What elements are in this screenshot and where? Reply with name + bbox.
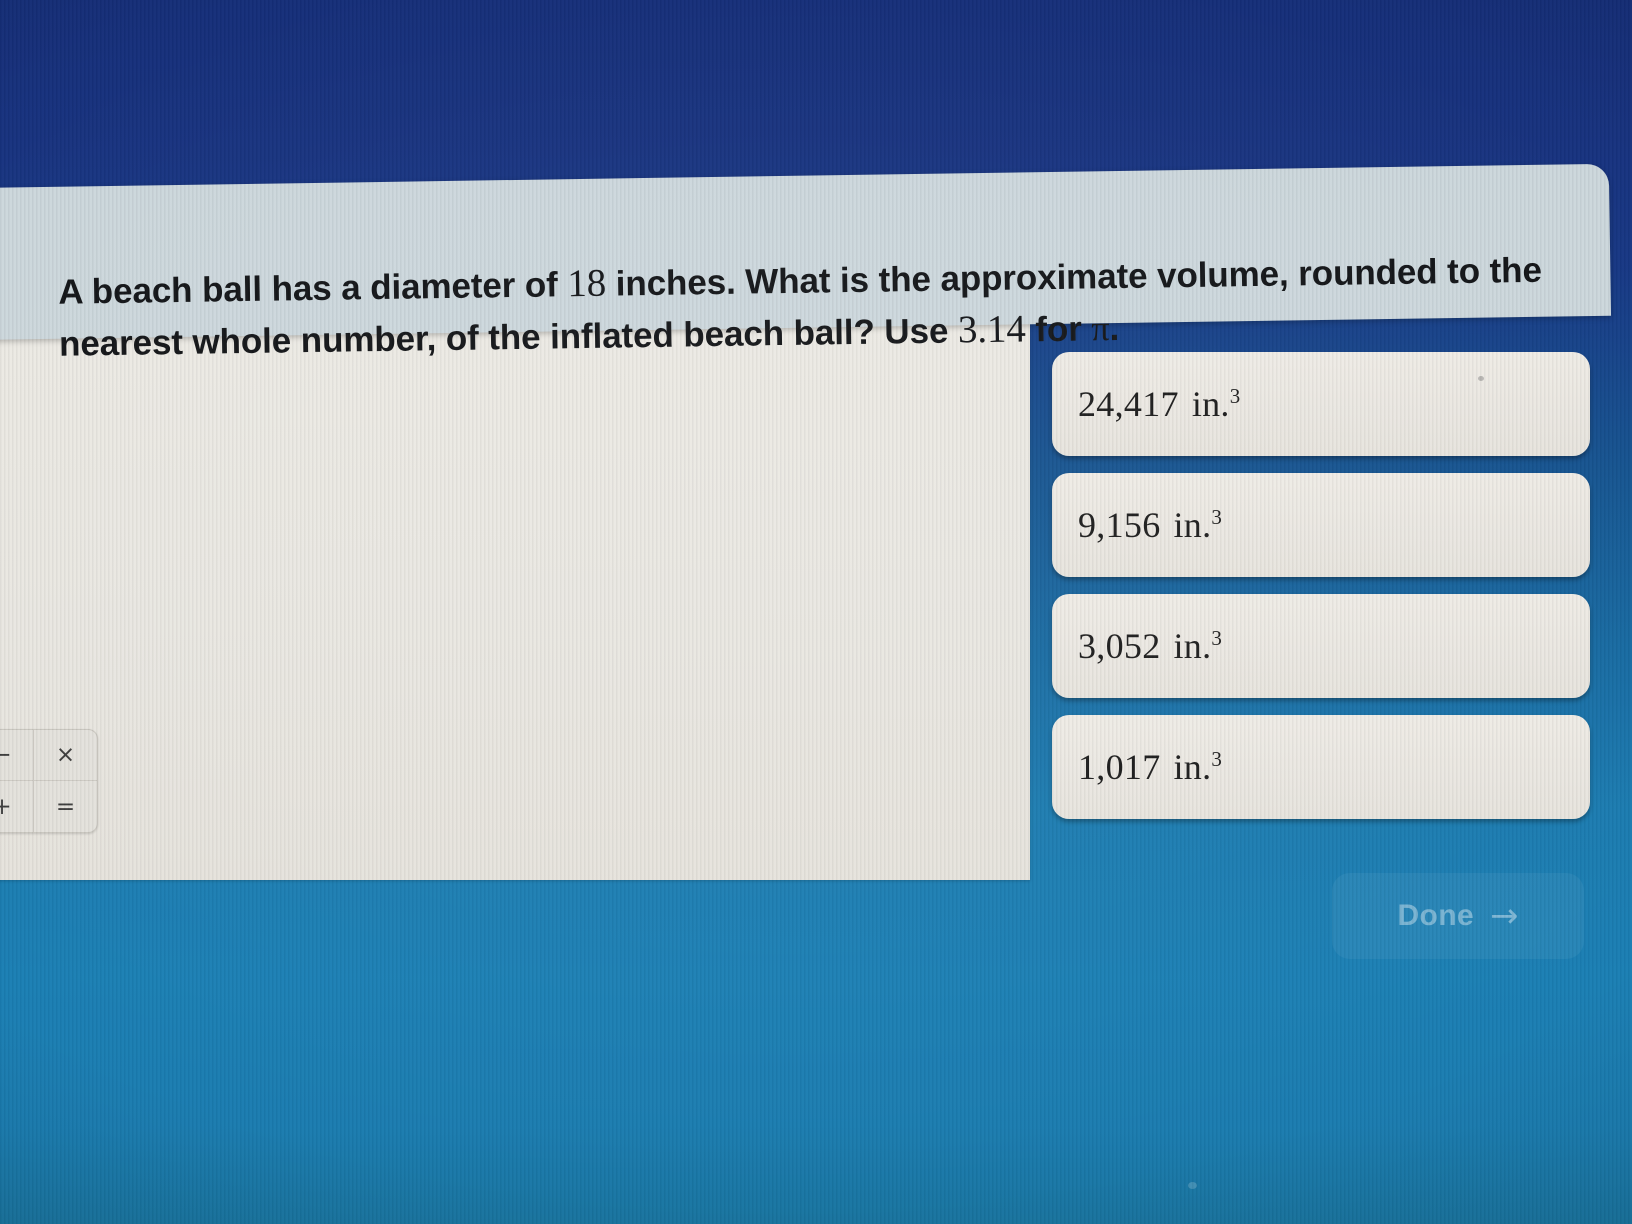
answer-choice-3-unit: in. bbox=[1174, 626, 1212, 666]
question-pi-value: 3.14 bbox=[958, 307, 1026, 351]
done-button[interactable]: Done → bbox=[1332, 873, 1584, 959]
dust-speck-icon bbox=[1478, 376, 1484, 381]
operator-keypad[interactable]: − × + = bbox=[0, 729, 98, 833]
plus-key[interactable]: + bbox=[0, 781, 34, 832]
answer-choice-1-exponent: 3 bbox=[1230, 384, 1241, 408]
question-line1-part-a: A beach ball has a diameter of bbox=[58, 265, 568, 312]
answer-choice-4-exponent: 3 bbox=[1211, 747, 1222, 771]
answer-choice-3-label: 3,052in.3 bbox=[1078, 625, 1222, 667]
answer-choice-1-value: 24,417 bbox=[1078, 384, 1179, 424]
answer-choice-2-value: 9,156 bbox=[1078, 505, 1161, 545]
answer-choice-3-value: 3,052 bbox=[1078, 626, 1161, 666]
answer-choice-1[interactable]: 24,417in.3 bbox=[1052, 352, 1590, 456]
answer-choice-1-unit: in. bbox=[1192, 384, 1230, 424]
answer-choice-4-unit: in. bbox=[1174, 747, 1212, 787]
answer-choice-2-label: 9,156in.3 bbox=[1078, 504, 1222, 546]
question-line1-part-b: inches. What is the approximate volume, … bbox=[606, 251, 1542, 304]
answer-choice-2-unit: in. bbox=[1174, 505, 1212, 545]
answer-choice-3[interactable]: 3,052in.3 bbox=[1052, 594, 1590, 698]
answer-choice-4[interactable]: 1,017in.3 bbox=[1052, 715, 1590, 819]
minus-key[interactable]: − bbox=[0, 730, 34, 781]
answer-choice-list: 24,417in.3 9,156in.3 3,052in.3 1,017in.3 bbox=[1052, 352, 1590, 836]
done-button-label: Done bbox=[1397, 899, 1474, 933]
answer-choice-1-label: 24,417in.3 bbox=[1078, 383, 1241, 425]
question-line2-part-a: nearest whole number, of the inflated be… bbox=[59, 311, 958, 363]
arrow-right-icon: → bbox=[1490, 899, 1519, 933]
quiz-screen: A beach ball has a diameter of 18 inches… bbox=[0, 0, 1632, 1224]
answer-choice-4-label: 1,017in.3 bbox=[1078, 746, 1222, 788]
equals-key[interactable]: = bbox=[34, 781, 97, 832]
answer-choice-2[interactable]: 9,156in.3 bbox=[1052, 473, 1590, 577]
answer-choice-4-value: 1,017 bbox=[1078, 747, 1161, 787]
question-diameter-value: 18 bbox=[567, 262, 606, 306]
question-banner: A beach ball has a diameter of 18 inches… bbox=[0, 164, 1611, 341]
lens-dust-icon bbox=[1188, 1182, 1197, 1189]
answer-choice-2-exponent: 3 bbox=[1211, 505, 1222, 529]
question-line2-end: . bbox=[1109, 309, 1119, 348]
multiply-key[interactable]: × bbox=[34, 730, 97, 781]
question-line2-part-b: for bbox=[1025, 309, 1091, 349]
pi-symbol: π bbox=[1091, 308, 1110, 348]
answer-choice-3-exponent: 3 bbox=[1211, 626, 1222, 650]
